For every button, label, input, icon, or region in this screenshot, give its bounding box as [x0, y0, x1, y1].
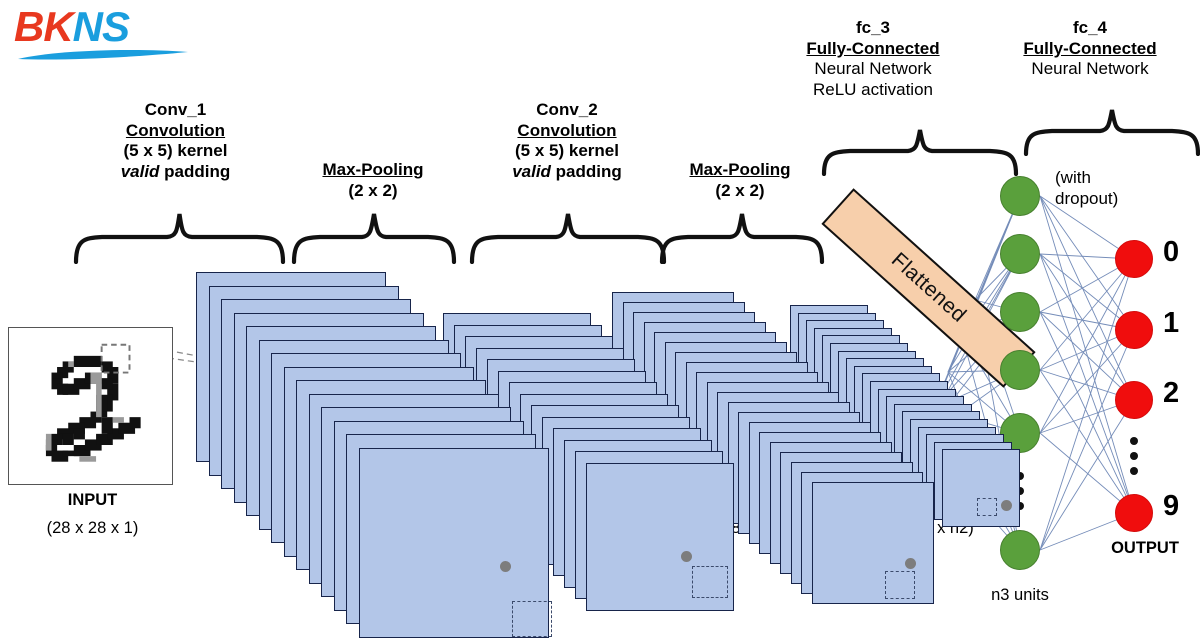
conv2-title: Conv_2	[467, 100, 667, 121]
receptive-field-box	[977, 498, 997, 516]
logo-text-ns: NS	[73, 3, 129, 50]
input-caption: INPUT (28 x 28 x 1)	[10, 490, 175, 538]
fc3-title: fc_3	[778, 18, 968, 39]
output-node-0	[1115, 240, 1153, 278]
brace-conv_1	[72, 212, 287, 264]
fc4-subtitle: Fully-Connected	[995, 39, 1185, 60]
brace-maxpool_1	[290, 212, 458, 264]
conv2-subtitle: Convolution	[467, 121, 667, 142]
dropout-line-1: (with	[1055, 168, 1165, 189]
feature-map-front	[586, 463, 734, 611]
maxpool2-title: Max-Pooling	[655, 160, 825, 181]
fc3-activation: ReLU activation	[778, 80, 968, 101]
output-node-9	[1115, 494, 1153, 532]
maxpool2-size: (2 x 2)	[655, 181, 825, 202]
output-node-1	[1115, 311, 1153, 349]
dropout-note: (with dropout)	[1055, 168, 1165, 209]
fc4-network: Neural Network	[995, 59, 1185, 80]
receptive-field-box	[885, 571, 915, 599]
feature-map-activation-dot	[905, 558, 916, 569]
brace-maxpool_2	[658, 212, 826, 264]
hidden-node-4	[1000, 350, 1040, 390]
receptive-field-box	[692, 566, 728, 598]
maxpool1-title: Max-Pooling	[288, 160, 458, 181]
maxpool1-size: (2 x 2)	[288, 181, 458, 202]
receptive-field-box	[512, 601, 552, 637]
feature-map-front	[942, 449, 1020, 527]
feature-map-activation-dot	[1001, 500, 1012, 511]
hidden-node-3	[1000, 292, 1040, 332]
output-label-0: 0	[1163, 236, 1179, 269]
output-node-2	[1115, 381, 1153, 419]
brace-fc_3	[820, 128, 1020, 176]
hidden-node-1	[1000, 176, 1040, 216]
brace-fc_4	[1022, 108, 1200, 156]
conv1-padding: valid padding	[68, 162, 283, 183]
conv1-title: Conv_1	[68, 100, 283, 121]
stage-label-conv_1: Conv_1 Convolution (5 x 5) kernel valid …	[68, 100, 283, 183]
logo-swoosh-icon	[16, 48, 190, 62]
output-label-9: 9	[1163, 490, 1179, 523]
stage-label-maxpool_2: Max-Pooling (2 x 2)	[655, 160, 825, 201]
hidden-layer-label: n3 units	[955, 585, 1085, 605]
fc4-title: fc_4	[995, 18, 1185, 39]
logo-text-bk: BK	[14, 3, 73, 50]
stage-label-fc_4: fc_4 Fully-Connected Neural Network	[995, 18, 1185, 80]
hidden-node-2	[1000, 234, 1040, 274]
input-label: INPUT	[10, 490, 175, 510]
diagram-canvas: BKNS	[0, 0, 1200, 638]
hidden-node-6	[1000, 530, 1040, 570]
feature-map-activation-dot	[681, 551, 692, 562]
input-image-box	[8, 327, 173, 485]
output-caption: OUTPUT	[1090, 538, 1200, 558]
conv1-subtitle: Convolution	[68, 121, 283, 142]
output-label-2: 2	[1163, 377, 1179, 410]
output-layer-ellipsis	[1130, 437, 1138, 475]
feature-map-activation-dot	[500, 561, 511, 572]
bkns-logo: BKNS	[14, 4, 194, 66]
stage-label-maxpool_1: Max-Pooling (2 x 2)	[288, 160, 458, 201]
mnist-digit-image	[9, 328, 172, 484]
feature-map-front	[359, 448, 549, 638]
logo-wordmark: BKNS	[14, 4, 129, 50]
fc3-network: Neural Network	[778, 59, 968, 80]
conv2-kernel: (5 x 5) kernel	[467, 141, 667, 162]
brace-conv_2	[468, 212, 668, 264]
output-label-1: 1	[1163, 307, 1179, 340]
input-shape: (28 x 28 x 1)	[10, 518, 175, 538]
stage-label-fc_3: fc_3 Fully-Connected Neural Network ReLU…	[778, 18, 968, 101]
feature-map-front	[812, 482, 934, 604]
stage-label-conv_2: Conv_2 Convolution (5 x 5) kernel valid …	[467, 100, 667, 183]
output-label: OUTPUT	[1090, 538, 1200, 558]
conv2-padding: valid padding	[467, 162, 667, 183]
hidden-layer-caption: n3 units	[955, 585, 1085, 605]
fc3-subtitle: Fully-Connected	[778, 39, 968, 60]
conv1-kernel: (5 x 5) kernel	[68, 141, 283, 162]
dropout-line-2: dropout)	[1055, 189, 1165, 210]
